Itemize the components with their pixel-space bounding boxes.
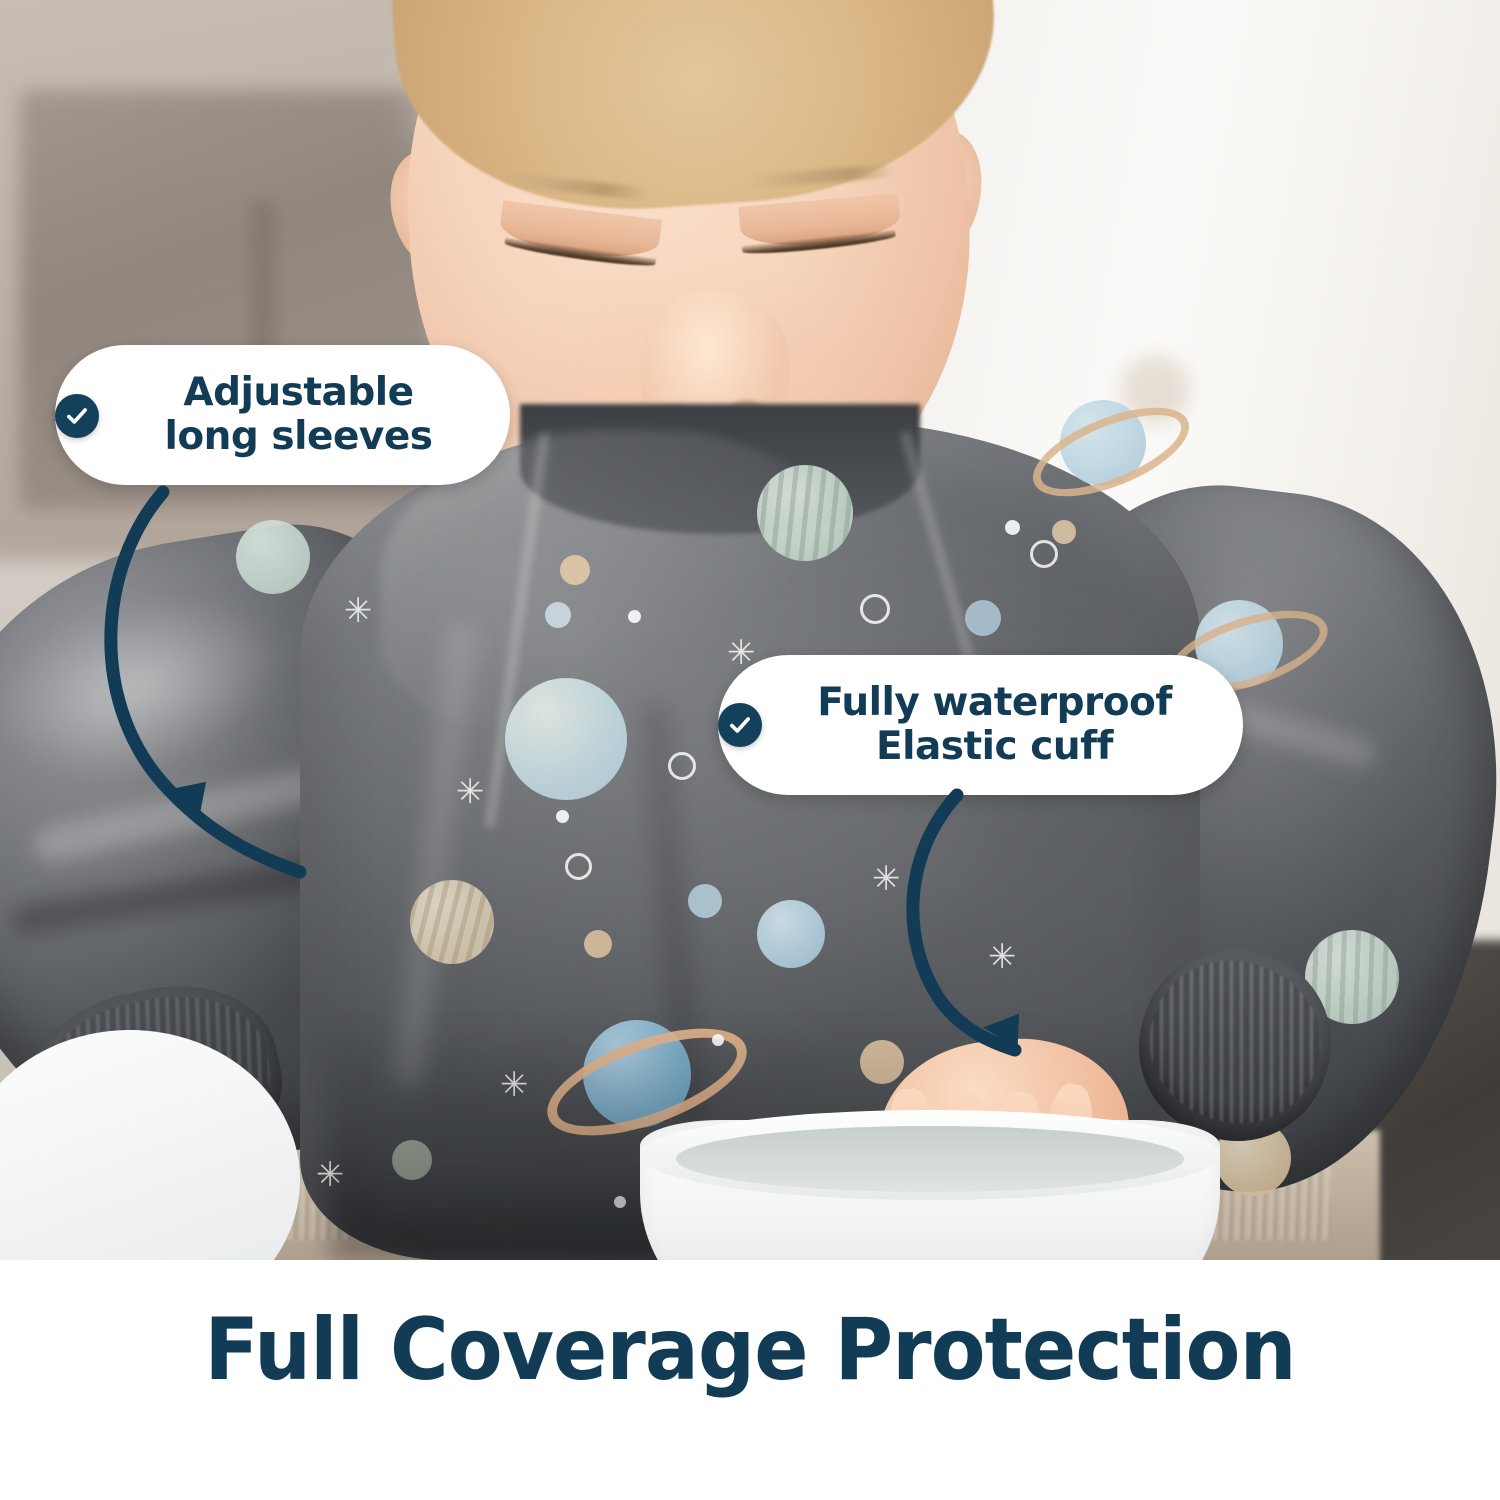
callout-text: Fully waterproof Elastic cuff xyxy=(817,681,1172,769)
starburst-icon: ✳ xyxy=(344,594,373,628)
callout-line-1: Adjustable xyxy=(165,371,433,415)
callout-pill: Fully waterproof Elastic cuff xyxy=(718,655,1243,795)
star-ring xyxy=(860,594,890,624)
planet-dot xyxy=(560,555,590,585)
starburst-icon: ✳ xyxy=(456,775,485,809)
planet-stripes xyxy=(757,465,853,561)
planet-dot xyxy=(545,602,571,628)
planet-motif xyxy=(757,900,825,968)
callout-adjustable-long-sleeves[interactable]: Adjustable long sleeves xyxy=(55,345,510,485)
planet-dot xyxy=(1052,520,1076,544)
star-ring xyxy=(1030,540,1058,568)
bowl-interior xyxy=(676,1126,1184,1192)
callout-fully-waterproof-elastic-cuff[interactable]: Fully waterproof Elastic cuff xyxy=(718,655,1243,795)
callout-text: Adjustable long sleeves xyxy=(165,371,433,459)
planet-dot xyxy=(965,600,1001,636)
check-circle-icon xyxy=(55,394,99,438)
star-ring xyxy=(668,752,696,780)
star-dot xyxy=(1005,520,1020,535)
page-headline: Full Coverage Protection xyxy=(53,1300,1448,1400)
planet-dot xyxy=(688,884,722,918)
planet-motif-large xyxy=(505,678,627,800)
star-ring xyxy=(565,853,592,880)
starburst-icon: ✳ xyxy=(988,940,1017,974)
callout-line-2: Elastic cuff xyxy=(817,725,1172,769)
planet-stripes xyxy=(410,880,494,964)
check-icon xyxy=(727,712,753,738)
star-dot xyxy=(556,810,569,823)
planet-dot xyxy=(584,930,612,958)
starburst-icon: ✳ xyxy=(872,862,901,896)
callout-pill: Adjustable long sleeves xyxy=(55,345,510,485)
product-photo: ✳ ✳ ✳ ✳ ✳ ✳ ✳ ✳ Adjustable long sleeves xyxy=(0,0,1500,1260)
check-icon xyxy=(64,403,90,429)
callout-line-2: long sleeves xyxy=(165,415,433,459)
star-dot xyxy=(628,610,641,623)
callout-line-1: Fully waterproof xyxy=(817,681,1172,725)
planet-motif xyxy=(236,520,310,594)
check-circle-icon xyxy=(718,703,762,747)
